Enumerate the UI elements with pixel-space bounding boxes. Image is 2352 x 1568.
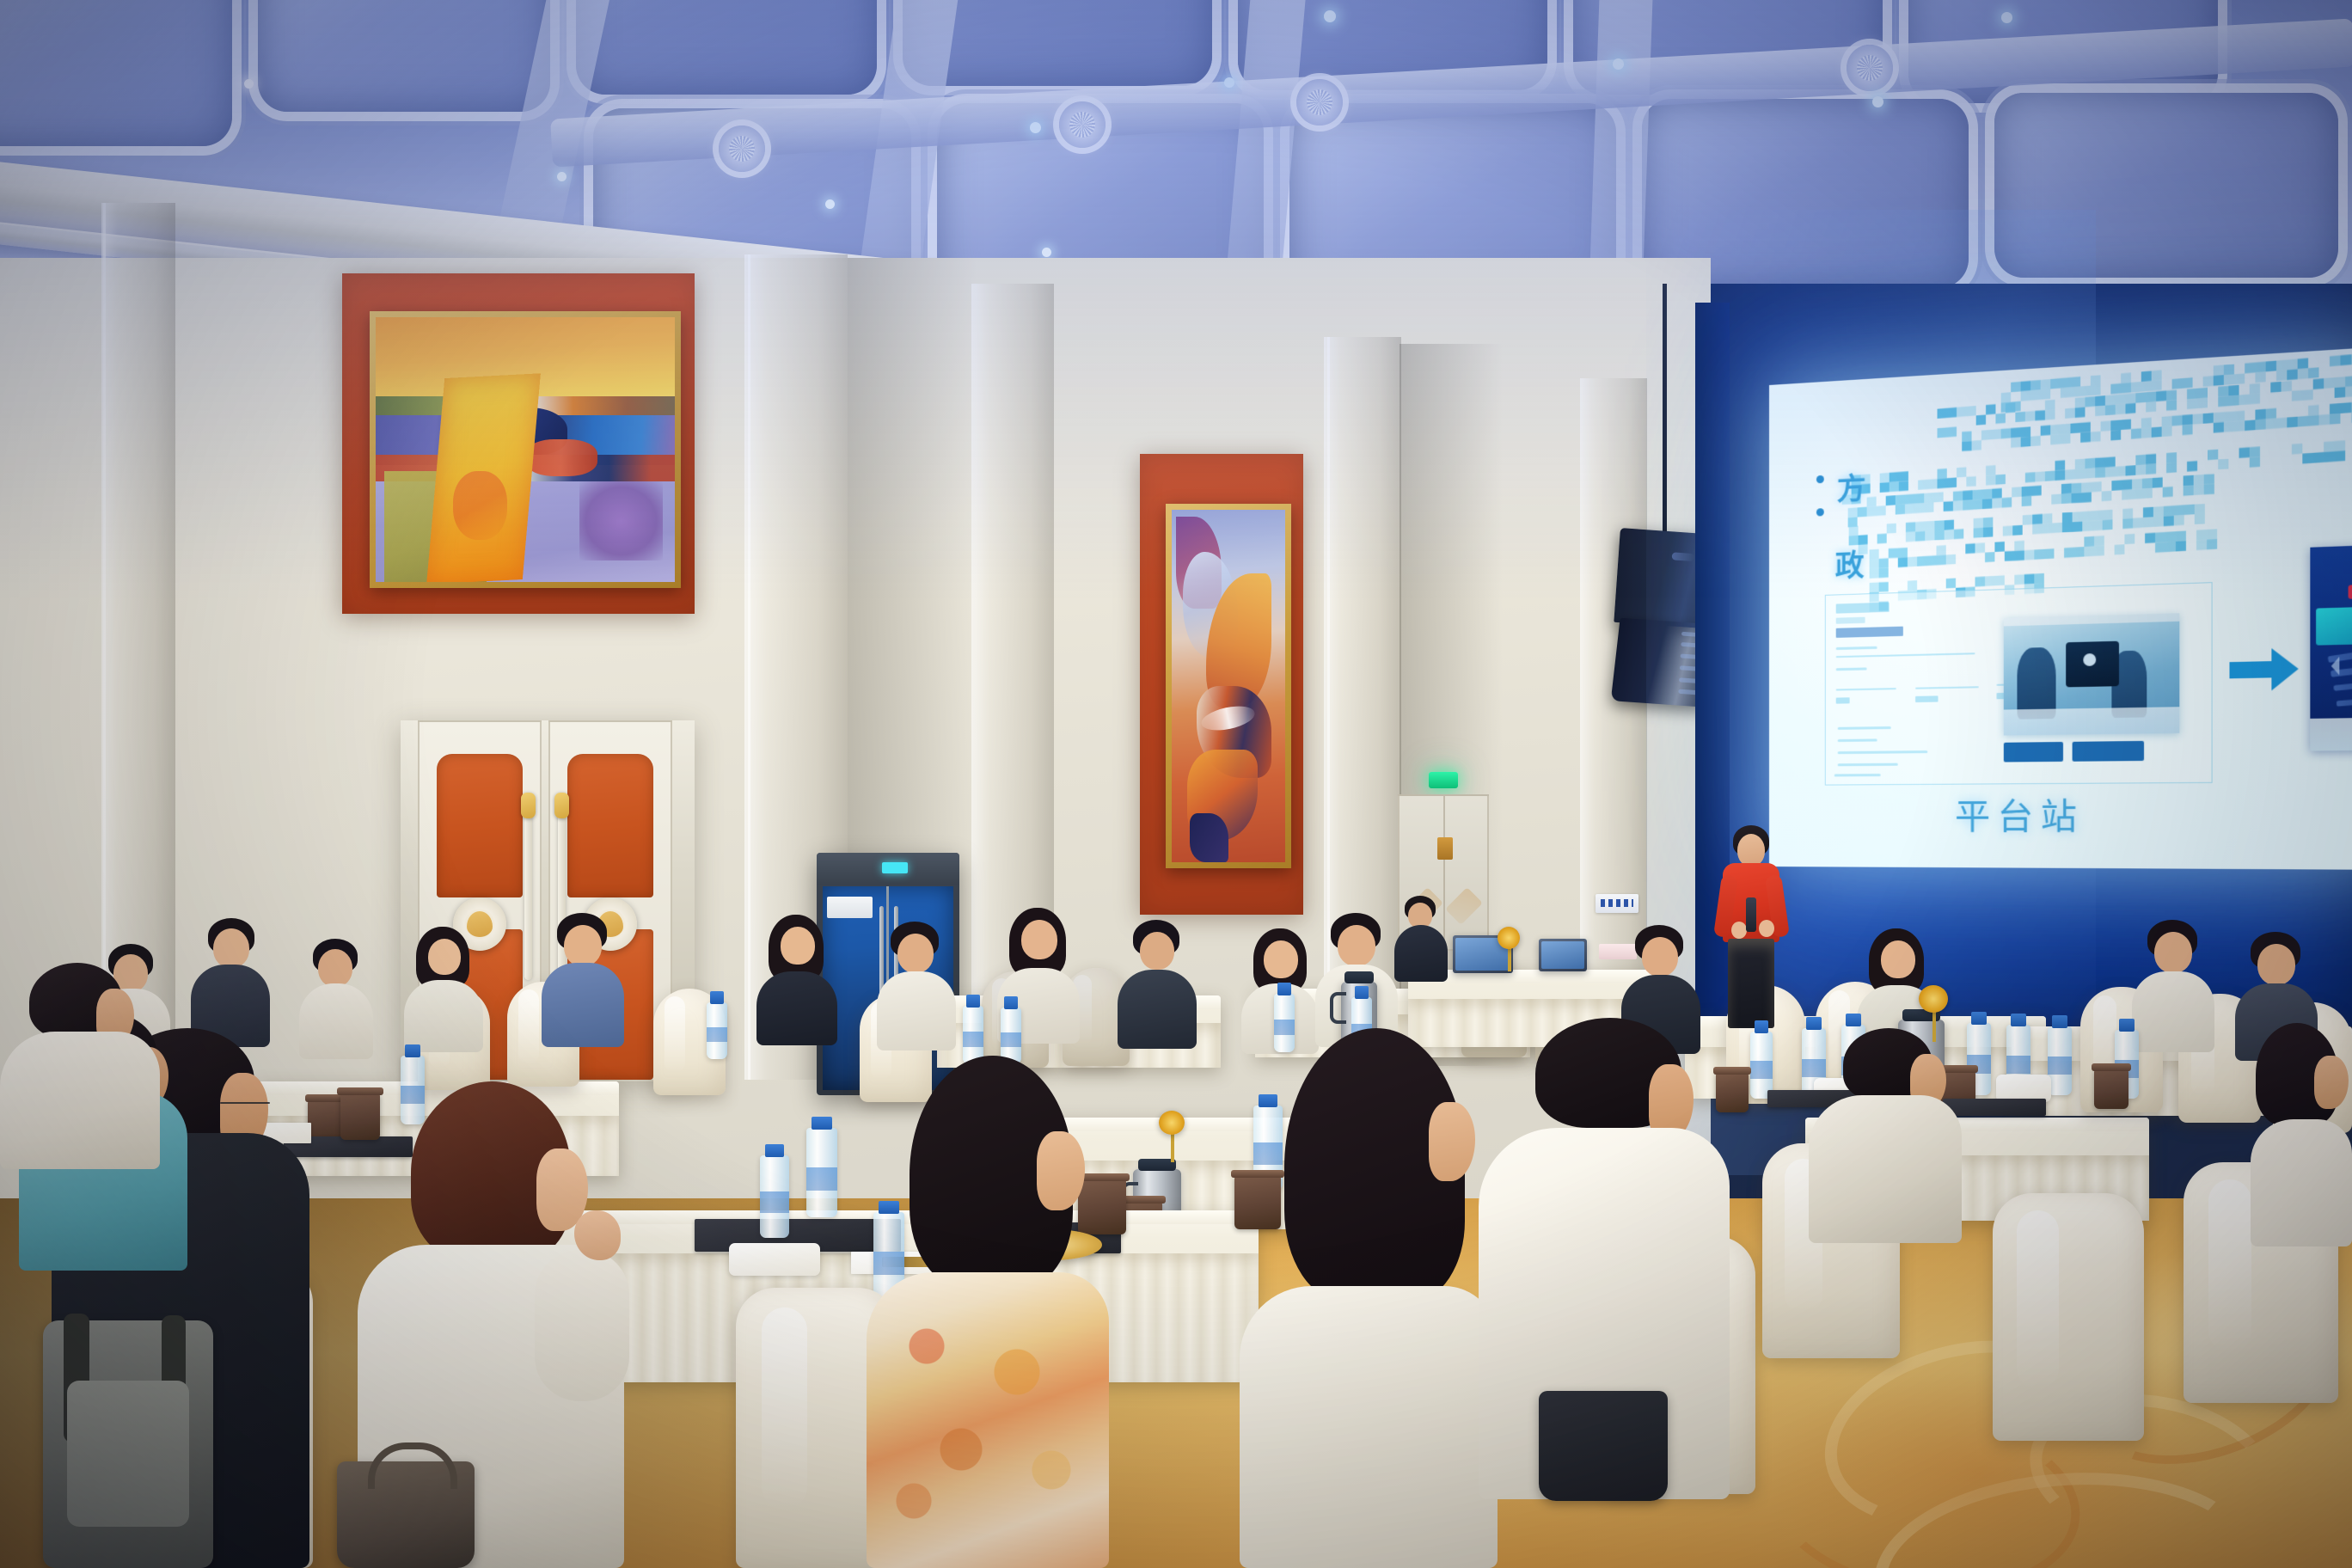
audience-member — [756, 915, 837, 1045]
av-technician — [1393, 896, 1453, 982]
ceiling-rosette — [1847, 45, 1893, 91]
ceiling-rosette — [1296, 79, 1343, 126]
flow-arrow-icon — [2229, 646, 2298, 693]
slide-bullet-2 — [1816, 508, 1824, 516]
folded-napkin — [729, 1243, 820, 1276]
wide-abstract-landscape-painting — [376, 317, 675, 582]
fridge-display — [882, 862, 908, 873]
slide-card-button-1 — [2004, 742, 2063, 763]
audience-member — [877, 922, 956, 1050]
side-door-handles[interactable] — [1437, 837, 1453, 860]
ceiling-downlight — [244, 79, 254, 89]
slide-listing-card — [1825, 582, 2213, 786]
conference-hall-photo: 方 政 — [0, 0, 2352, 1568]
presenter-head — [1737, 834, 1765, 867]
audience-member — [1809, 1028, 1970, 1243]
ceiling-downlight — [1224, 77, 1234, 88]
eyeglasses — [220, 1102, 270, 1104]
ceiling-downlight — [1613, 58, 1624, 70]
ceiling-rosette — [719, 126, 765, 172]
presenter-hand-right — [1759, 920, 1774, 937]
av-laptop-2[interactable] — [1539, 939, 1587, 971]
audience-member — [404, 927, 483, 1052]
ceiling-downlight — [1030, 122, 1041, 133]
painting-frame-2 — [1166, 504, 1291, 868]
banquet-chair[interactable] — [1993, 1193, 2144, 1441]
ceiling-rosette — [1059, 101, 1106, 148]
ceiling-downlight — [1324, 10, 1336, 22]
slide-heading-fragment: 政 — [1835, 541, 1867, 585]
door-handle-left[interactable] — [524, 815, 532, 979]
presenter-skirt — [1728, 939, 1774, 1028]
audience-face — [1429, 1102, 1475, 1181]
audience-member-foreground — [867, 1056, 1124, 1568]
exit-sign — [1429, 772, 1458, 788]
audience-member — [2251, 1023, 2352, 1246]
audience-arm — [535, 1250, 629, 1401]
ceiling-downlight — [1872, 96, 1883, 107]
ceiling-downlight — [557, 172, 567, 181]
projection-screen: 方 政 — [1769, 346, 2352, 870]
painting-frame-1 — [370, 311, 681, 588]
audience-member — [0, 963, 168, 1169]
slide-card-button-2 — [2073, 741, 2144, 762]
handbag[interactable] — [337, 1461, 475, 1568]
water-bottle[interactable] — [2048, 1026, 2072, 1095]
ceiling-downlight — [825, 199, 835, 209]
slide-office-photo — [2004, 613, 2179, 735]
water-bottle[interactable] — [760, 1155, 789, 1238]
slide-mobile-screenshot — [2310, 542, 2352, 750]
water-bottle[interactable] — [1750, 1032, 1773, 1099]
presenter-hand-left — [1731, 922, 1747, 939]
table-number-sign — [1159, 1111, 1185, 1162]
table-number-sign — [1498, 927, 1520, 971]
handbag[interactable] — [1539, 1391, 1668, 1501]
audience-face — [1037, 1131, 1085, 1210]
audience-torso — [1240, 1286, 1498, 1568]
slide-caption: 平台站 — [1955, 787, 2084, 840]
tall-abstract-painting — [1172, 510, 1285, 862]
presenter — [1712, 825, 1788, 1028]
slide-bullet-fragment: 方 — [1837, 464, 1869, 508]
wall-notice-sign-text — [1601, 899, 1633, 907]
pilaster-edge — [748, 254, 750, 1080]
audience-member-foreground — [1240, 1028, 1515, 1568]
audience-member — [2132, 920, 2214, 1052]
slide-bullet-1 — [1816, 475, 1824, 484]
tea-cup[interactable] — [2094, 1069, 2128, 1109]
microphone — [1746, 897, 1756, 932]
audience-hand — [574, 1210, 621, 1260]
ceiling-downlight — [2001, 12, 2012, 23]
backpack[interactable] — [43, 1320, 213, 1568]
audience-member — [542, 913, 624, 1047]
water-bottle[interactable] — [806, 1128, 837, 1217]
ceiling-downlight — [1042, 248, 1051, 257]
water-bottle[interactable] — [707, 1002, 727, 1059]
audience-member — [1118, 920, 1197, 1049]
blouse-floral-pattern — [884, 1289, 1099, 1547]
